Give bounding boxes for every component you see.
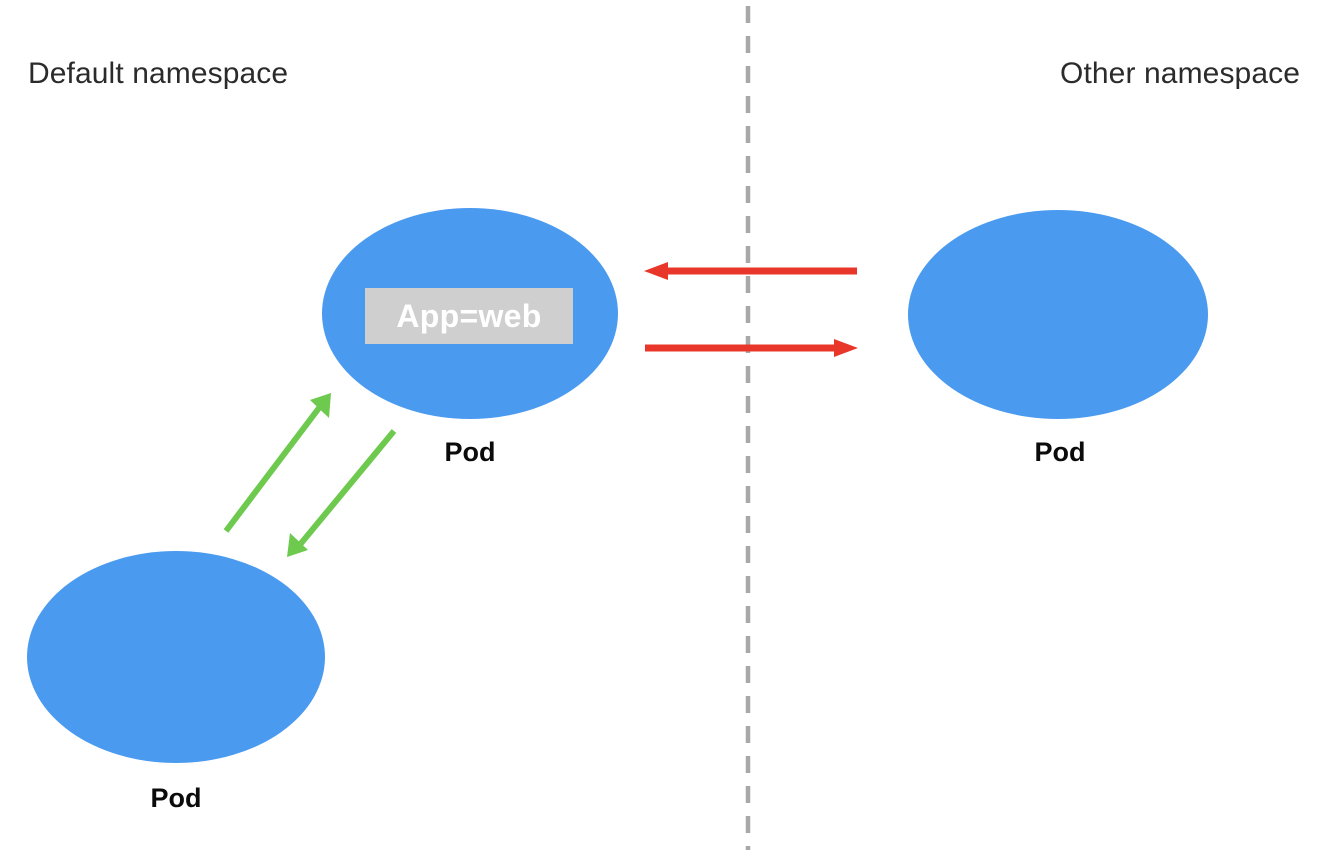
pod-default-caption: Pod [86, 783, 266, 814]
arrow-egress-to-other[interactable] [645, 339, 858, 357]
pod-label-badge: App=web [365, 288, 573, 344]
namespace-label-other: Other namespace [1060, 57, 1300, 91]
pod-default-namespace-shape[interactable] [27, 551, 325, 763]
pod-label-badge-text: App=web [396, 298, 541, 335]
arrow-egress-to-other-head [834, 339, 858, 357]
arrow-ingress-from-default-line [226, 404, 322, 531]
pod-other-caption: Pod [970, 437, 1150, 468]
pod-web-caption: Pod [380, 437, 560, 468]
arrow-egress-to-default[interactable] [287, 431, 394, 557]
arrow-ingress-from-default[interactable] [226, 393, 331, 531]
pod-other-namespace-shape[interactable] [908, 210, 1208, 419]
diagram-canvas: Default namespace Other namespace App=we… [0, 0, 1320, 856]
arrow-egress-to-default-head [287, 533, 308, 557]
namespace-label-default: Default namespace [28, 57, 288, 91]
arrow-ingress-from-other-head [644, 262, 668, 280]
arrow-ingress-from-other[interactable] [644, 262, 857, 280]
arrow-ingress-from-default-head [310, 393, 331, 418]
